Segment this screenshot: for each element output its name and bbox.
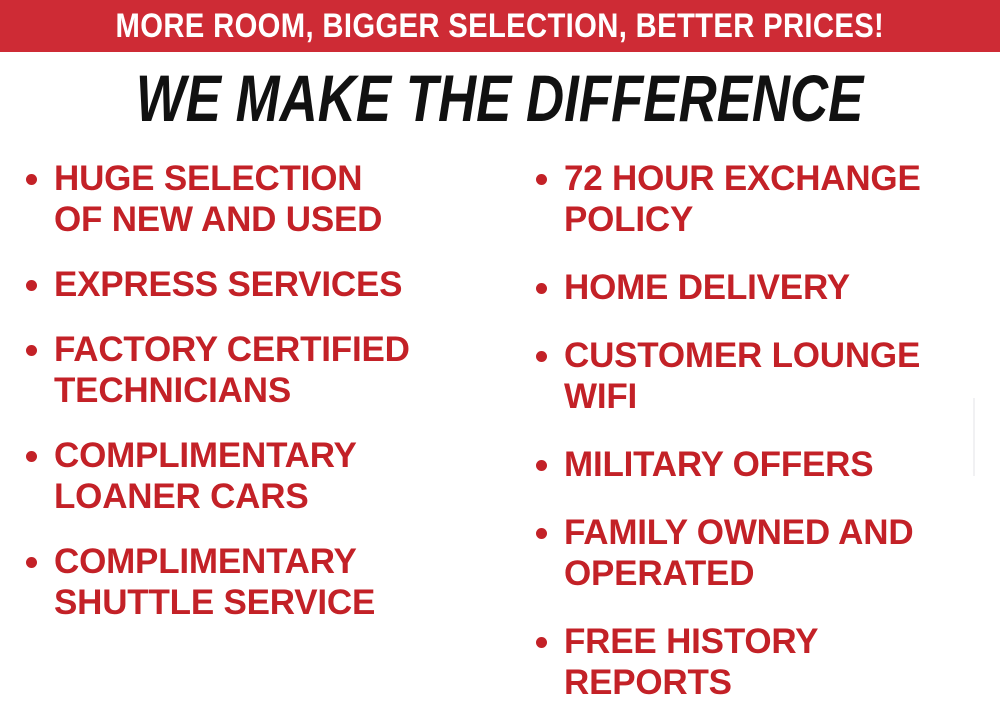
advertisement-page: MORE ROOM, BIGGER SELECTION, BETTER PRIC… [0, 0, 1000, 694]
list-item-label: HOME DELIVERY [564, 267, 994, 308]
list-item-label: HUGE SELECTION OF NEW AND USED [54, 158, 497, 240]
list-item: FREE HISTORY REPORTS [530, 621, 994, 703]
bullet-dot-icon [536, 528, 547, 539]
bullet-dot-icon [536, 283, 547, 294]
list-item-label: FAMILY OWNED AND OPERATED [564, 512, 994, 594]
list-item-label: 72 HOUR EXCHANGE POLICY [564, 158, 994, 240]
bullet-dot-icon [536, 460, 547, 471]
bullet-dot-icon [536, 637, 547, 648]
feature-columns: HUGE SELECTION OF NEW AND USED EXPRESS S… [0, 158, 1000, 694]
bullet-dot-icon [536, 174, 547, 185]
scan-artifact [973, 398, 975, 476]
list-item-label: COMPLIMENTARY SHUTTLE SERVICE [54, 541, 497, 623]
bullet-dot-icon [26, 174, 37, 185]
list-item: HUGE SELECTION OF NEW AND USED [20, 158, 497, 240]
list-item-label: MILITARY OFFERS [564, 444, 994, 485]
list-item: FACTORY CERTIFIED TECHNICIANS [20, 329, 497, 411]
list-item-label: EXPRESS SERVICES [54, 264, 497, 305]
list-item-label: FACTORY CERTIFIED TECHNICIANS [54, 329, 497, 411]
bullet-dot-icon [26, 451, 37, 462]
list-item: COMPLIMENTARY SHUTTLE SERVICE [20, 541, 497, 623]
list-item: CUSTOMER LOUNGE WIFI [530, 335, 994, 417]
top-banner-text: MORE ROOM, BIGGER SELECTION, BETTER PRIC… [116, 9, 885, 43]
list-item: HOME DELIVERY [530, 267, 994, 308]
feature-column-right: 72 HOUR EXCHANGE POLICY HOME DELIVERY CU… [505, 158, 1000, 694]
list-item-label: CUSTOMER LOUNGE WIFI [564, 335, 994, 417]
top-banner: MORE ROOM, BIGGER SELECTION, BETTER PRIC… [0, 0, 1000, 52]
bullet-dot-icon [536, 351, 547, 362]
list-item: EXPRESS SERVICES [20, 264, 497, 305]
list-item: FAMILY OWNED AND OPERATED [530, 512, 994, 594]
list-item: 72 HOUR EXCHANGE POLICY [530, 158, 994, 240]
page-title: WE MAKE THE DIFFERENCE [0, 62, 1000, 134]
feature-list-left: HUGE SELECTION OF NEW AND USED EXPRESS S… [20, 158, 497, 623]
list-item-label: FREE HISTORY REPORTS [564, 621, 994, 703]
list-item-label: COMPLIMENTARY LOANER CARS [54, 435, 497, 517]
bullet-dot-icon [26, 557, 37, 568]
page-title-text: WE MAKE THE DIFFERENCE [136, 62, 863, 134]
feature-list-right: 72 HOUR EXCHANGE POLICY HOME DELIVERY CU… [530, 158, 994, 703]
list-item: COMPLIMENTARY LOANER CARS [20, 435, 497, 517]
list-item: MILITARY OFFERS [530, 444, 994, 485]
feature-column-left: HUGE SELECTION OF NEW AND USED EXPRESS S… [0, 158, 505, 694]
bullet-dot-icon [26, 345, 37, 356]
bullet-dot-icon [26, 280, 37, 291]
